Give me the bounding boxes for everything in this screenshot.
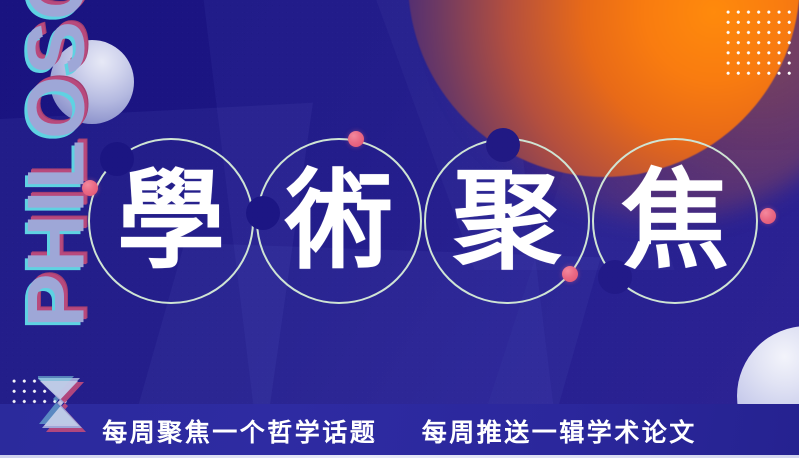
pink-dot-4	[760, 208, 776, 224]
title-character-1: 學	[88, 138, 254, 304]
title-circle-4: 焦	[592, 138, 758, 304]
title-character-4: 焦	[592, 138, 758, 304]
tagline-right: 每周推送一辑学术论文	[422, 418, 697, 447]
title-circle-row: 學 術 聚 焦	[0, 138, 799, 306]
tagline-left: 每周聚焦一个哲学话题	[102, 418, 377, 447]
title-character-2: 術	[256, 138, 422, 304]
title-circle-2: 術	[256, 138, 422, 304]
dot-grid-top-right-icon	[722, 6, 794, 78]
philosophy-banner: PHILOSOPHY 學 術 聚 焦	[0, 0, 799, 458]
bottom-band: 每周聚焦一个哲学话题 每周推送一辑学术论文	[0, 404, 799, 458]
tagline: 每周聚焦一个哲学话题 每周推送一辑学术论文	[102, 413, 696, 449]
pink-dot-2	[348, 131, 364, 147]
pink-dot-3	[562, 266, 578, 282]
pink-dot-1	[82, 180, 98, 196]
title-circle-3: 聚	[424, 138, 590, 304]
title-circle-1: 學	[88, 138, 254, 304]
sphere-top-left	[50, 40, 134, 124]
